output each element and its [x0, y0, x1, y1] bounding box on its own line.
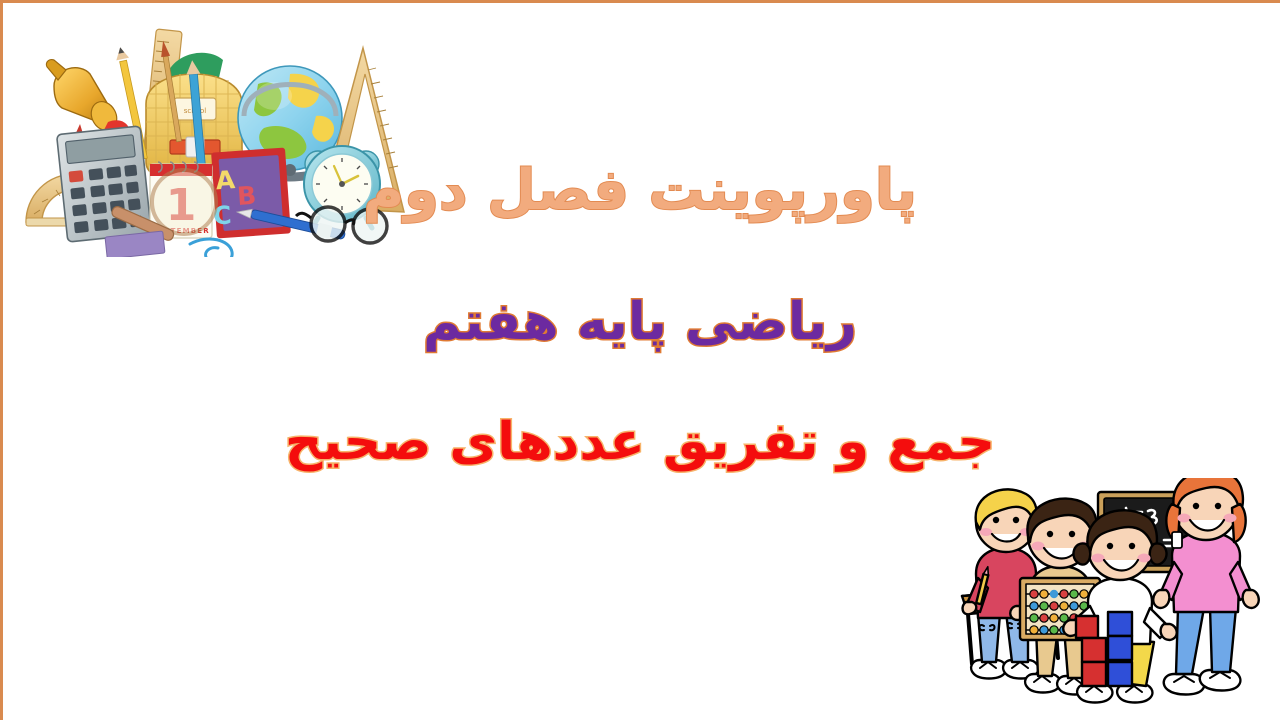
child-redhead-girl — [1153, 478, 1259, 695]
slide-border-top — [0, 0, 1280, 3]
svg-text:B: B — [236, 181, 257, 211]
svg-text:A: A — [215, 165, 237, 195]
slide-border-left — [0, 0, 3, 720]
slide-title-line-2: ریاضی پایه هفتم — [0, 296, 1280, 348]
school-supplies-clipart: school — [18, 12, 413, 257]
presentation-slide: school — [0, 0, 1280, 720]
slide-title-line-3: جمع و تفریق عددهای صحیح — [0, 416, 1280, 468]
blue-paperclip-icon — [190, 239, 232, 257]
children-math-class-clipart — [958, 478, 1268, 706]
